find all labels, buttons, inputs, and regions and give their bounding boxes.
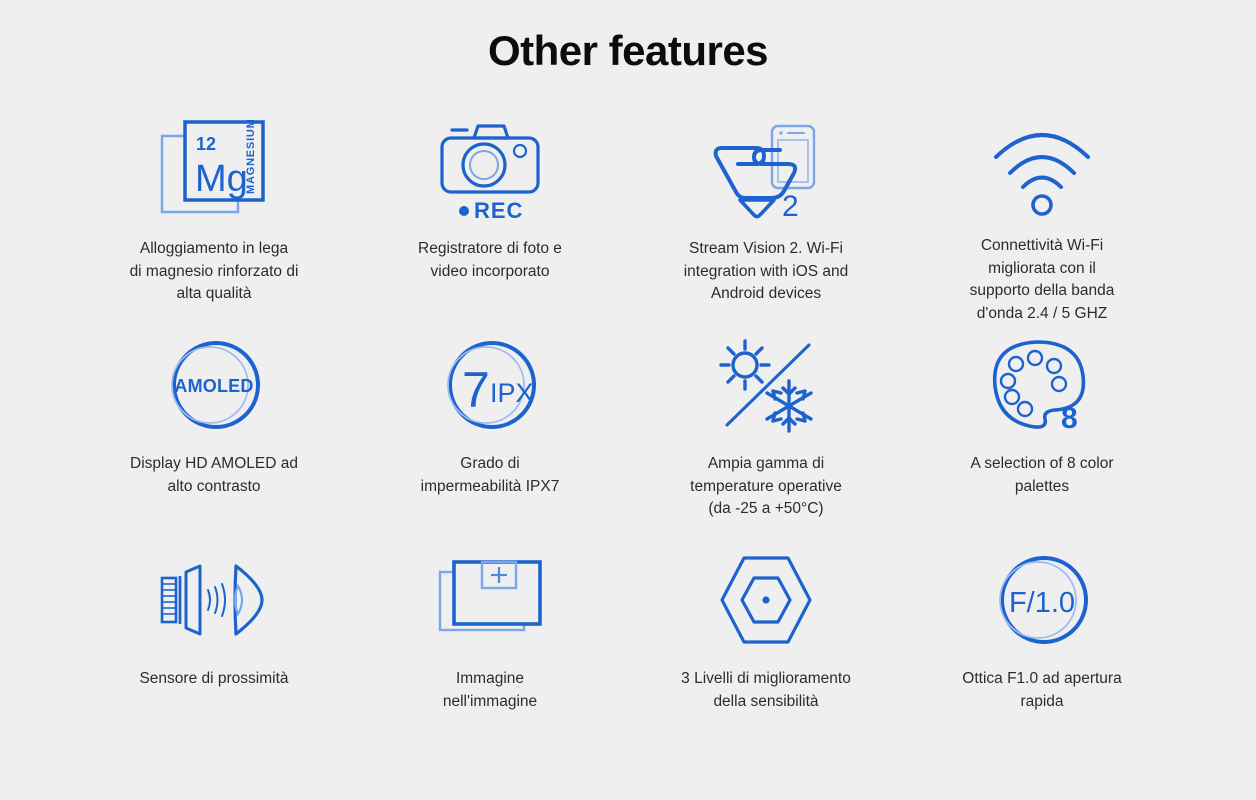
- feature-caption: 3 Livelli di miglioramento della sensibi…: [671, 668, 861, 713]
- feature-caption: Ottica F1.0 ad apertura rapida: [947, 668, 1137, 713]
- features-grid: 12 Mg MAGNESIUM Alloggiamento in lega di…: [76, 74, 1180, 755]
- aperture-f1-icon: F/1.0: [957, 540, 1127, 660]
- page-title: Other features: [0, 0, 1256, 74]
- palette-count: 8: [1061, 402, 1078, 435]
- amoled-display-icon: AMOLED: [129, 325, 299, 445]
- feature-item-magnesium: 12 Mg MAGNESIUM Alloggiamento in lega di…: [76, 110, 352, 325]
- hexagon-levels-icon: [681, 540, 851, 660]
- ipx7-waterproof-icon: 7 IPX: [405, 325, 575, 445]
- feature-caption: Immagine nell'immagine: [395, 668, 585, 713]
- color-palette-icon: 8: [957, 325, 1127, 445]
- feature-caption: Ampia gamma di temperature operative (da…: [671, 453, 861, 520]
- ipx7-label: IPX: [490, 378, 534, 408]
- feature-caption: Sensore di prossimità: [119, 668, 309, 690]
- magnesium-alloy-icon: 12 Mg MAGNESIUM: [129, 110, 299, 230]
- feature-item-stream-vision: 2 Stream Vision 2. Wi-Fi integration wit…: [628, 110, 904, 325]
- feature-item-proximity: Sensore di prossimità: [76, 540, 352, 755]
- feature-caption: Alloggiamento in lega di magnesio rinfor…: [119, 238, 309, 305]
- feature-item-temperature: Ampia gamma di temperature operative (da…: [628, 325, 904, 540]
- magnesium-name: MAGNESIUM: [245, 118, 257, 194]
- temperature-range-icon: [681, 325, 851, 445]
- feature-item-ipx7: 7 IPX Grado di impermeabilità IPX7: [352, 325, 628, 540]
- aperture-label: F/1.0: [1009, 587, 1075, 619]
- feature-item-aperture: F/1.0 Ottica F1.0 ad apertura rapida: [904, 540, 1180, 755]
- feature-caption: Display HD AMOLED ad alto contrasto: [119, 453, 309, 498]
- stream-vision-version: 2: [782, 190, 799, 223]
- feature-item-camera: REC Registratore di foto e video incorpo…: [352, 110, 628, 325]
- camera-rec-icon: REC: [405, 110, 575, 230]
- picture-in-picture-icon: [405, 540, 575, 660]
- magnesium-symbol: Mg: [195, 158, 248, 200]
- magnesium-number: 12: [196, 134, 216, 154]
- feature-item-palettes: 8 A selection of 8 color palettes: [904, 325, 1180, 540]
- feature-item-pip: Immagine nell'immagine: [352, 540, 628, 755]
- other-features-section: Other features 12 Mg MAGNESIUM Alloggiam…: [0, 0, 1256, 800]
- feature-caption: Connettività Wi-Fi migliorata con il sup…: [947, 235, 1137, 325]
- feature-caption: Registratore di foto e video incorporato: [395, 238, 585, 283]
- camera-rec-label: REC: [474, 198, 523, 223]
- feature-caption: A selection of 8 color palettes: [947, 453, 1137, 498]
- proximity-sensor-icon: [129, 540, 299, 660]
- stream-vision-2-icon: 2: [681, 110, 851, 230]
- feature-item-amoled: AMOLED Display HD AMOLED ad alto contras…: [76, 325, 352, 540]
- wifi-icon: [957, 110, 1127, 227]
- amoled-label: AMOLED: [174, 376, 253, 396]
- feature-caption: Stream Vision 2. Wi-Fi integration with …: [671, 238, 861, 305]
- ipx7-digit: 7: [462, 362, 490, 418]
- feature-item-sensitivity: 3 Livelli di miglioramento della sensibi…: [628, 540, 904, 755]
- feature-caption: Grado di impermeabilità IPX7: [395, 453, 585, 498]
- feature-item-wifi: Connettività Wi-Fi migliorata con il sup…: [904, 110, 1180, 325]
